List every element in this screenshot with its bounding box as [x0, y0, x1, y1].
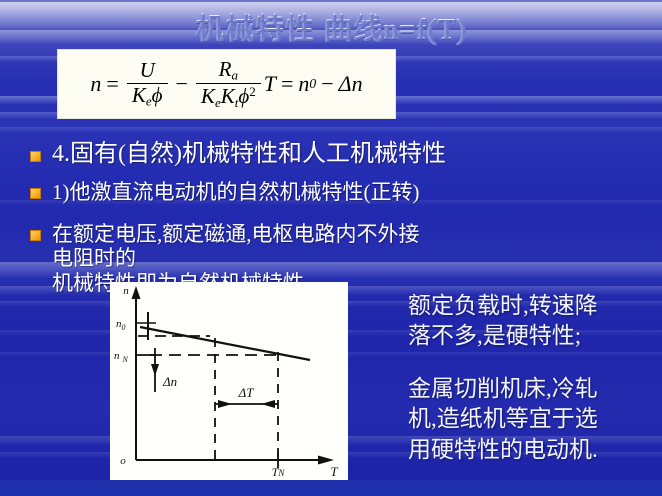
origin-label: o: [120, 455, 126, 467]
fraction-numerator: Ra: [214, 59, 243, 83]
denominator-k1: K: [201, 84, 215, 108]
fraction-denominator: Keϕ: [127, 83, 168, 108]
formula-equals: =: [106, 71, 118, 97]
bullet-text: 4.固有(自然)机械特性和人工机械特性: [52, 141, 446, 169]
formula-expression: n = U Keϕ − Ra KeKtϕ2 T = n0 − Δn: [58, 50, 395, 118]
formula-equals-2: =: [281, 71, 293, 97]
denominator-phi: ϕ: [152, 83, 163, 107]
formula-rhs-delta-n: Δn: [339, 71, 363, 97]
delta-n-arrowhead: [151, 364, 159, 376]
nN-label: nN: [114, 350, 129, 364]
mechanical-characteristic-chart: n T o n0 nN Δn ΔT TN: [110, 282, 348, 480]
bullet-square-icon: [30, 151, 41, 162]
side-note-paragraph-2: 金属切削机床,冷轧 机,造纸机等宜于选 用硬特性的电动机.: [408, 374, 658, 466]
formula-lhs: n: [90, 71, 101, 97]
side-note-paragraph-1: 额定负载时,转速降 落不多,是硬特性;: [408, 293, 598, 349]
x-axis-label: T: [330, 464, 338, 479]
formula-fraction-1: U Keϕ: [127, 60, 168, 107]
delta-T-arrowhead-left: [218, 400, 232, 408]
delta-T-label: ΔT: [238, 385, 255, 400]
denominator-k2: K: [221, 84, 235, 108]
formula-rhs-n: n: [298, 71, 309, 97]
bullet-item-2: 1)他激直流电动机的自然机械特性(正转): [30, 180, 640, 204]
slide-title: 机械特性 曲线n=f(T): [0, 6, 662, 48]
fraction-denominator: KeKtϕ2: [196, 83, 261, 109]
bullet-square-icon: [30, 188, 41, 199]
formula-rhs-subscript: 0: [309, 76, 316, 92]
bullet-square-icon: [30, 230, 41, 241]
numerator-r-subscript: a: [231, 68, 238, 83]
n0-label: n0: [116, 318, 126, 332]
numerator-r: R: [219, 57, 232, 81]
fraction-numerator: U: [135, 60, 160, 82]
delta-T-arrowhead-right: [261, 400, 275, 408]
chart-svg: n T o n0 nN Δn ΔT TN: [110, 282, 348, 480]
y-axis-label: n: [123, 285, 129, 297]
delta-n-label: Δn: [162, 374, 177, 389]
y-axis-arrowhead: [132, 286, 141, 299]
formula-rhs-minus: −: [321, 71, 333, 97]
denominator-k: K: [132, 83, 146, 107]
TN-label: TN: [272, 465, 286, 479]
formula-fraction-2: Ra KeKtϕ2: [196, 59, 261, 109]
characteristic-line: [140, 327, 310, 360]
denominator-phi: ϕ: [238, 84, 249, 108]
side-note-column: 额定负载时,转速降 落不多,是硬特性; 金属切削机床,冷轧 机,造纸机等宜于选 …: [408, 260, 658, 496]
denominator-exponent: 2: [249, 84, 256, 99]
formula-torque: T: [264, 71, 276, 97]
bullet-item-1: 4.固有(自然)机械特性和人工机械特性: [30, 141, 640, 169]
formula-box: n = U Keϕ − Ra KeKtϕ2 T = n0 − Δn: [58, 50, 395, 118]
bullet-text: 1)他激直流电动机的自然机械特性(正转): [52, 180, 419, 204]
formula-minus: −: [176, 71, 188, 97]
